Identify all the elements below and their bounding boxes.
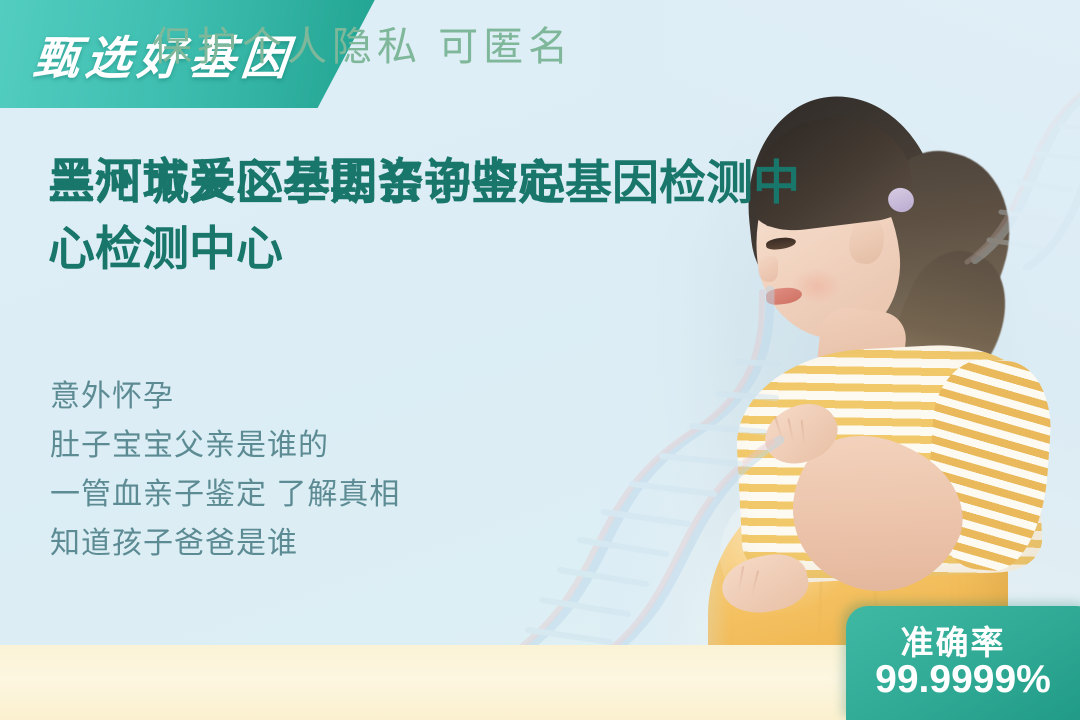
promotional-banner: 甄选好基因 黑河市爱心基因咨询中心 兰州城关区孕期亲子鉴定基因检测中 心检测中心… [0, 0, 1080, 720]
body-line-3: 一管血亲子鉴定 了解真相 [50, 470, 400, 519]
body-line-2: 肚子宝宝父亲是谁的 [50, 421, 400, 470]
accuracy-badge-value: 99.9999% [846, 658, 1080, 702]
body-line-1: 意外怀孕 [50, 372, 400, 421]
headline-layer-b-line2: 心检测中心 [48, 216, 800, 282]
accuracy-badge: 准确率 99.9999% [846, 606, 1080, 720]
photo-left-fade [600, 0, 730, 720]
privacy-note: 保护个人隐私 可匿名 [152, 14, 573, 72]
headline-layer-b-line1: 兰州城关区孕期亲子鉴定基因检测中 [48, 156, 800, 209]
headline-layer-b: 兰州城关区孕期亲子鉴定基因检测中 心检测中心 [48, 150, 800, 282]
accuracy-badge-title: 准确率 [846, 616, 1060, 664]
headline-group: 黑河市爱心基因咨询中心 兰州城关区孕期亲子鉴定基因检测中 心检测中心 [48, 148, 878, 288]
body-line-4: 知道孩子爸爸是谁 [50, 519, 400, 568]
body-copy: 意外怀孕 肚子宝宝父亲是谁的 一管血亲子鉴定 了解真相 知道孩子爸爸是谁 [50, 372, 400, 568]
